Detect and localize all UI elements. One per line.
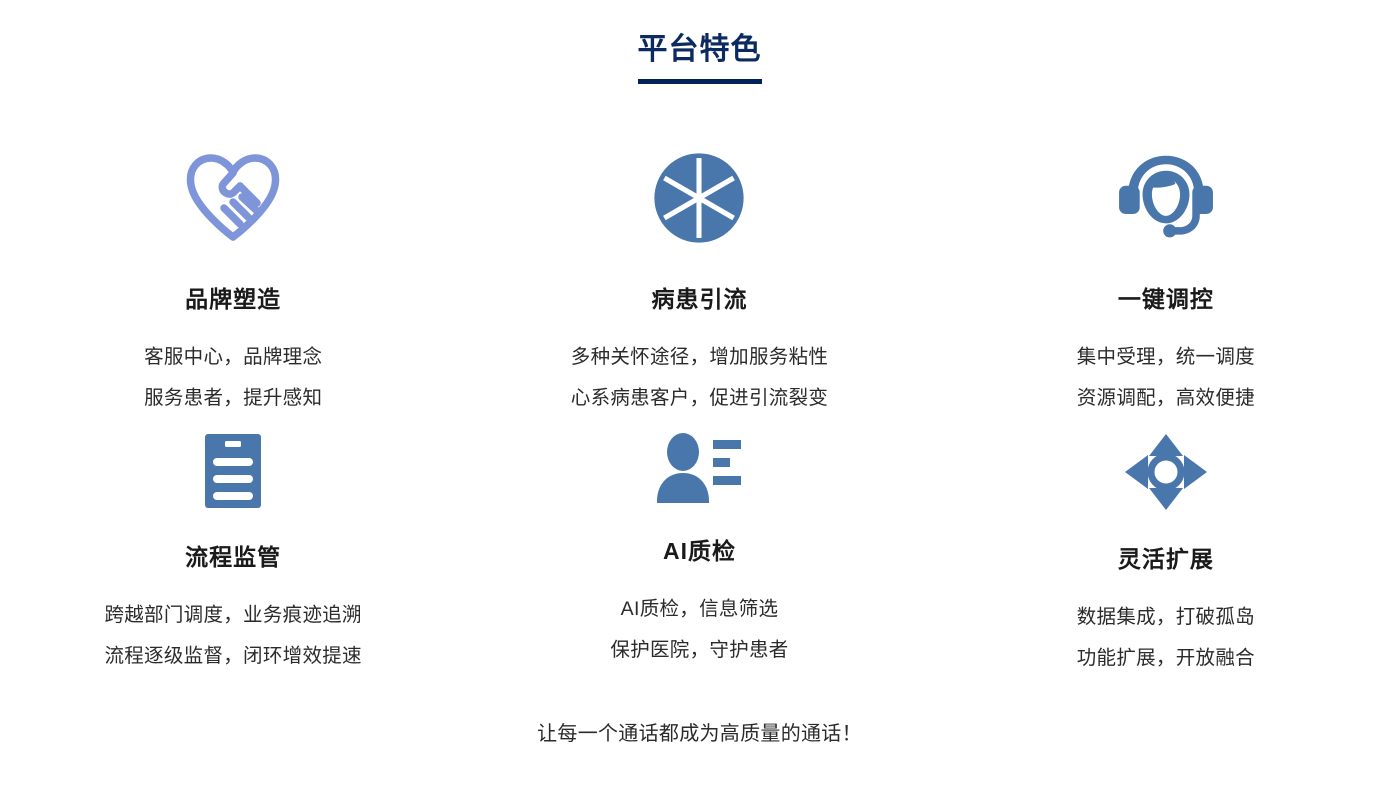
feature-title: 一键调控	[1118, 284, 1214, 314]
tagline: 让每一个通话都成为高质量的通话！	[0, 718, 1399, 750]
handshake-heart-icon	[185, 150, 281, 246]
feature-description: 多种关怀途径，增加服务粘性 心系病患客户，促进引流裂变	[571, 337, 828, 419]
feature-desc-line: 多种关怀途径，增加服务粘性	[571, 337, 828, 378]
feature-desc-line: 跨越部门调度，业务痕迹追溯	[104, 595, 361, 636]
feature-description: 客服中心，品牌理念 服务患者，提升感知	[144, 337, 322, 419]
feature-title: 流程监管	[185, 542, 281, 572]
feature-desc-line: 客服中心，品牌理念	[144, 337, 322, 378]
headset-icon	[1117, 150, 1215, 246]
feature-desc-line: 流程逐级监督，闭环增效提速	[104, 636, 361, 677]
feature-description: AI质检，信息筛选 保护医院，守护患者	[610, 589, 788, 671]
feature-card-process-supervision[interactable]: 流程监管 跨越部门调度，业务痕迹追溯 流程逐级监督，闭环增效提速	[0, 432, 466, 667]
clipboard-icon	[203, 432, 263, 510]
aperture-icon	[653, 150, 745, 246]
feature-desc-line: 资源调配，高效便捷	[1077, 378, 1255, 419]
four-arrows-expand-icon	[1123, 432, 1209, 512]
feature-title: AI质检	[663, 536, 736, 566]
feature-title: 病患引流	[651, 284, 747, 314]
feature-desc-line: 保护医院，守护患者	[610, 630, 788, 671]
user-profile-icon	[656, 432, 742, 504]
platform-features-page: 平台特色	[0, 0, 1399, 786]
feature-card-one-click-control[interactable]: 一键调控 集中受理，统一调度 资源调配，高效便捷	[933, 150, 1399, 432]
page-title: 平台特色	[638, 30, 762, 84]
feature-description: 集中受理，统一调度 资源调配，高效便捷	[1077, 337, 1255, 419]
feature-desc-line: 功能扩展，开放融合	[1077, 638, 1255, 679]
page-title-container: 平台特色	[0, 0, 1399, 84]
feature-description: 数据集成，打破孤岛 功能扩展，开放融合	[1077, 597, 1255, 679]
features-row-top: 品牌塑造 客服中心，品牌理念 服务患者，提升感知	[0, 150, 1399, 432]
feature-description: 跨越部门调度，业务痕迹追溯 流程逐级监督，闭环增效提速	[104, 595, 361, 677]
feature-card-ai-quality-inspection[interactable]: AI质检 AI质检，信息筛选 保护医院，守护患者	[466, 432, 932, 667]
features-row-bottom: 流程监管 跨越部门调度，业务痕迹追溯 流程逐级监督，闭环增效提速	[0, 432, 1399, 667]
feature-title: 灵活扩展	[1118, 544, 1214, 574]
feature-card-patient-acquisition[interactable]: 病患引流 多种关怀途径，增加服务粘性 心系病患客户，促进引流裂变	[466, 150, 932, 432]
feature-card-brand-shaping[interactable]: 品牌塑造 客服中心，品牌理念 服务患者，提升感知	[0, 150, 466, 432]
feature-desc-line: AI质检，信息筛选	[610, 589, 788, 630]
feature-card-flexible-expansion[interactable]: 灵活扩展 数据集成，打破孤岛 功能扩展，开放融合	[933, 432, 1399, 667]
feature-desc-line: 服务患者，提升感知	[144, 378, 322, 419]
feature-desc-line: 集中受理，统一调度	[1077, 337, 1255, 378]
features-grid: 品牌塑造 客服中心，品牌理念 服务患者，提升感知	[0, 150, 1399, 667]
feature-title: 品牌塑造	[185, 284, 281, 314]
feature-desc-line: 心系病患客户，促进引流裂变	[571, 378, 828, 419]
feature-desc-line: 数据集成，打破孤岛	[1077, 597, 1255, 638]
